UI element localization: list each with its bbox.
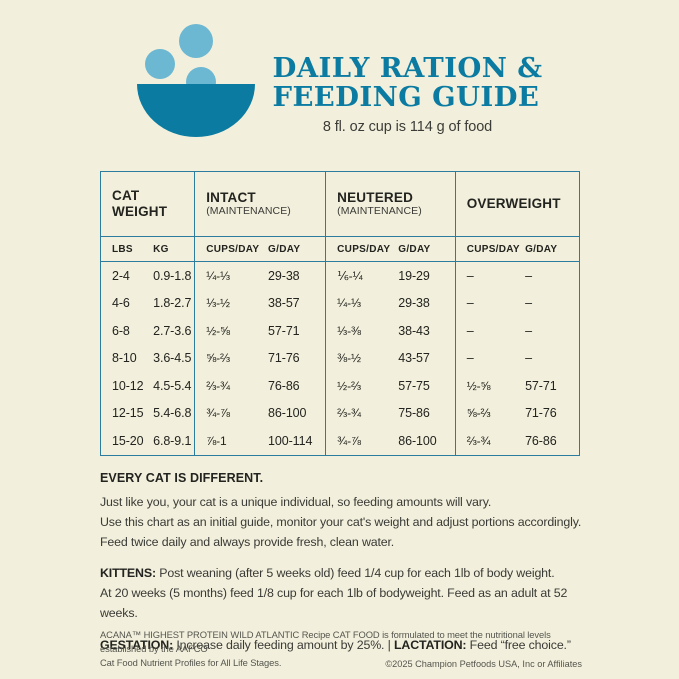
- cell-overweight: ⅝-⅔ 71-76: [455, 400, 579, 428]
- table-row: 12-15 5.4-6.8 ¾-⅞ 86-100 ⅔-¾ 75-86 ⅝-⅔ 7…: [101, 400, 579, 428]
- cell-overweight-grams: 57-71: [525, 379, 579, 393]
- cell-intact-grams: 57-71: [268, 324, 325, 338]
- cell-weight: 10-12 4.5-5.4: [101, 372, 195, 400]
- cell-neutered-cups: ¾-⅞: [337, 434, 398, 448]
- column-header-overweight-grams: G/DAY: [525, 244, 579, 255]
- header: DAILY RATION & FEEDING GUIDE 8 fl. oz cu…: [0, 0, 679, 135]
- table-row: 6-8 2.7-3.6 ½-⅝ 57-71 ⅓-⅜ 38-43 – –: [101, 317, 579, 345]
- cell-overweight-grams: –: [525, 269, 579, 283]
- table-column-header-row: LBS KG CUPS/DAY G/DAY CUPS/DAY G/DAY: [101, 237, 579, 262]
- cell-kg: 3.6-4.5: [153, 351, 194, 365]
- copyright-notice: ©2025 Champion Petfoods USA, Inc or Affi…: [100, 659, 582, 669]
- column-header-intact-cups: CUPS/DAY: [206, 244, 268, 255]
- cell-weight: 4-6 1.8-2.7: [101, 290, 195, 318]
- cell-overweight-cups: ⅔-¾: [467, 434, 525, 448]
- cell-overweight-grams: 71-76: [525, 406, 579, 420]
- cell-lbs: 10-12: [112, 379, 153, 393]
- cell-neutered: ⅙-¼ 19-29: [326, 262, 456, 290]
- cell-neutered-grams: 38-43: [398, 324, 454, 338]
- group-header-neutered: NEUTERED (MAINTENANCE): [326, 172, 456, 237]
- cell-lbs: 8-10: [112, 351, 153, 365]
- cell-intact-cups: ¾-⅞: [206, 406, 268, 420]
- page-subtitle: 8 fl. oz cup is 114 g of food: [273, 119, 543, 135]
- cell-kg: 0.9-1.8: [153, 269, 194, 283]
- cell-overweight-cups: –: [467, 324, 525, 338]
- cell-overweight: ½-⅝ 57-71: [455, 372, 579, 400]
- feeding-table: CAT WEIGHT INTACT (MAINTENANCE) NEUTERED…: [100, 171, 580, 456]
- cell-intact: ¾-⅞ 86-100: [195, 400, 326, 428]
- cell-neutered-grams: 19-29: [398, 269, 454, 283]
- cell-neutered-grams: 75-86: [398, 406, 454, 420]
- cell-neutered-grams: 86-100: [398, 434, 454, 448]
- cell-intact: ⅞-1 100-114: [195, 427, 326, 455]
- cell-intact-cups: ⅓-½: [206, 296, 268, 310]
- table-row: 8-10 3.6-4.5 ⅝-⅔ 71-76 ⅜-½ 43-57 – –: [101, 345, 579, 373]
- column-header-neutered-cups: CUPS/DAY: [337, 244, 398, 255]
- cell-overweight-cups: –: [467, 351, 525, 365]
- cell-intact-grams: 38-57: [268, 296, 325, 310]
- cell-neutered-grams: 29-38: [398, 296, 454, 310]
- group-header-overweight: OVERWEIGHT: [455, 172, 579, 237]
- group-title-line-2: WEIGHT: [112, 204, 194, 220]
- bowl-icon: [137, 84, 255, 137]
- table-row: 15-20 6.8-9.1 ⅞-1 100-114 ¾-⅞ 86-100 ⅔-¾…: [101, 427, 579, 455]
- table-group-header-row: CAT WEIGHT INTACT (MAINTENANCE) NEUTERED…: [101, 172, 579, 237]
- cell-overweight: – –: [455, 317, 579, 345]
- cell-kg: 5.4-6.8: [153, 406, 194, 420]
- cell-weight: 2-4 0.9-1.8: [101, 262, 195, 290]
- column-header-overweight-cups: CUPS/DAY: [467, 244, 525, 255]
- cell-lbs: 4-6: [112, 296, 153, 310]
- cell-neutered-cups: ⅜-½: [337, 351, 398, 365]
- cell-overweight-cups: –: [467, 296, 525, 310]
- cell-neutered: ¼-⅓ 29-38: [326, 290, 456, 318]
- cell-neutered-grams: 43-57: [398, 351, 454, 365]
- column-header-overweight-pair: CUPS/DAY G/DAY: [455, 237, 579, 262]
- cell-weight: 6-8 2.7-3.6: [101, 317, 195, 345]
- notes-line-3: Feed twice daily and always provide fres…: [100, 532, 582, 552]
- kittens-note-line-2: At 20 weeks (5 months) feed 1/8 cup for …: [100, 583, 582, 623]
- cell-overweight-cups: ½-⅝: [467, 379, 525, 393]
- cell-lbs: 15-20: [112, 434, 153, 448]
- cell-intact-grams: 76-86: [268, 379, 325, 393]
- cell-neutered-cups: ⅓-⅜: [337, 324, 398, 338]
- cell-neutered-cups: ½-⅔: [337, 379, 398, 393]
- cell-intact-cups: ½-⅝: [206, 324, 268, 338]
- cell-neutered: ¾-⅞ 86-100: [326, 427, 456, 455]
- cell-neutered-cups: ⅔-¾: [337, 406, 398, 420]
- column-header-kg: KG: [153, 244, 194, 255]
- group-title-intact: INTACT: [206, 190, 325, 206]
- cell-overweight: – –: [455, 290, 579, 318]
- column-header-weight-pair: LBS KG: [101, 237, 195, 262]
- group-sub-intact: (MAINTENANCE): [206, 205, 325, 218]
- cell-overweight: ⅔-¾ 76-86: [455, 427, 579, 455]
- group-header-cat-weight: CAT WEIGHT: [101, 172, 195, 237]
- cell-neutered: ⅓-⅜ 38-43: [326, 317, 456, 345]
- cell-overweight-grams: –: [525, 296, 579, 310]
- cell-intact: ⅝-⅔ 71-76: [195, 345, 326, 373]
- cell-weight: 8-10 3.6-4.5: [101, 345, 195, 373]
- notes-line-2: Use this chart as an initial guide, moni…: [100, 512, 582, 532]
- kittens-text: Post weaning (after 5 weeks old) feed 1/…: [156, 566, 555, 580]
- cell-kg: 4.5-5.4: [153, 379, 194, 393]
- column-header-intact-grams: G/DAY: [268, 244, 325, 255]
- table-row: 10-12 4.5-5.4 ⅔-¾ 76-86 ½-⅔ 57-75 ½-⅝ 57…: [101, 372, 579, 400]
- cell-overweight-cups: ⅝-⅔: [467, 406, 525, 420]
- cat-food-bowl-logo: [137, 22, 255, 132]
- cell-lbs: 2-4: [112, 269, 153, 283]
- cell-intact: ⅔-¾ 76-86: [195, 372, 326, 400]
- cell-overweight-cups: –: [467, 269, 525, 283]
- legal-line-1: ACANA™ HIGHEST PROTEIN WILD ATLANTIC Rec…: [100, 628, 582, 656]
- column-header-lbs: LBS: [112, 244, 153, 255]
- group-sub-neutered: (MAINTENANCE): [337, 205, 455, 218]
- cell-neutered-grams: 57-75: [398, 379, 454, 393]
- cell-intact: ¼-⅓ 29-38: [195, 262, 326, 290]
- cell-weight: 12-15 5.4-6.8: [101, 400, 195, 428]
- cell-intact-grams: 100-114: [268, 434, 325, 448]
- notes-line-1: Just like you, your cat is a unique indi…: [100, 492, 582, 512]
- cell-intact-grams: 29-38: [268, 269, 325, 283]
- cell-kg: 2.7-3.6: [153, 324, 194, 338]
- bubble-top-icon: [179, 24, 213, 58]
- cell-neutered: ⅔-¾ 75-86: [326, 400, 456, 428]
- group-header-intact: INTACT (MAINTENANCE): [195, 172, 326, 237]
- cell-intact: ⅓-½ 38-57: [195, 290, 326, 318]
- cell-overweight-grams: 76-86: [525, 434, 579, 448]
- cell-overweight: – –: [455, 262, 579, 290]
- cell-lbs: 12-15: [112, 406, 153, 420]
- group-title-neutered: NEUTERED: [337, 190, 455, 206]
- column-header-neutered-pair: CUPS/DAY G/DAY: [326, 237, 456, 262]
- cell-kg: 1.8-2.7: [153, 296, 194, 310]
- cell-intact-grams: 86-100: [268, 406, 325, 420]
- bubble-left-icon: [145, 49, 175, 79]
- cell-neutered: ½-⅔ 57-75: [326, 372, 456, 400]
- cell-intact-cups: ¼-⅓: [206, 269, 268, 283]
- column-header-intact-pair: CUPS/DAY G/DAY: [195, 237, 326, 262]
- cell-weight: 15-20 6.8-9.1: [101, 427, 195, 455]
- cell-intact-grams: 71-76: [268, 351, 325, 365]
- cell-overweight-grams: –: [525, 324, 579, 338]
- page-title-line-2: FEEDING GUIDE: [273, 83, 543, 112]
- cell-neutered-cups: ¼-⅓: [337, 296, 398, 310]
- page-title-line-1: DAILY RATION &: [273, 54, 543, 83]
- cell-neutered: ⅜-½ 43-57: [326, 345, 456, 373]
- cell-overweight-grams: –: [525, 351, 579, 365]
- kittens-note: KITTENS: Post weaning (after 5 weeks old…: [100, 563, 582, 583]
- notes-heading: EVERY CAT IS DIFFERENT.: [100, 471, 582, 485]
- cell-overweight: – –: [455, 345, 579, 373]
- column-header-neutered-grams: G/DAY: [398, 244, 454, 255]
- cell-intact-cups: ⅔-¾: [206, 379, 268, 393]
- table-row: 4-6 1.8-2.7 ⅓-½ 38-57 ¼-⅓ 29-38 – –: [101, 290, 579, 318]
- cell-neutered-cups: ⅙-¼: [337, 269, 398, 283]
- cell-kg: 6.8-9.1: [153, 434, 194, 448]
- kittens-label: KITTENS:: [100, 566, 156, 580]
- group-title-line-1: CAT: [112, 188, 194, 204]
- group-title-overweight: OVERWEIGHT: [467, 196, 579, 212]
- table-row: 2-4 0.9-1.8 ¼-⅓ 29-38 ⅙-¼ 19-29 – –: [101, 262, 579, 290]
- cell-intact: ½-⅝ 57-71: [195, 317, 326, 345]
- cell-lbs: 6-8: [112, 324, 153, 338]
- cell-intact-cups: ⅞-1: [206, 434, 268, 448]
- title-block: DAILY RATION & FEEDING GUIDE 8 fl. oz cu…: [273, 22, 543, 135]
- cell-intact-cups: ⅝-⅔: [206, 351, 268, 365]
